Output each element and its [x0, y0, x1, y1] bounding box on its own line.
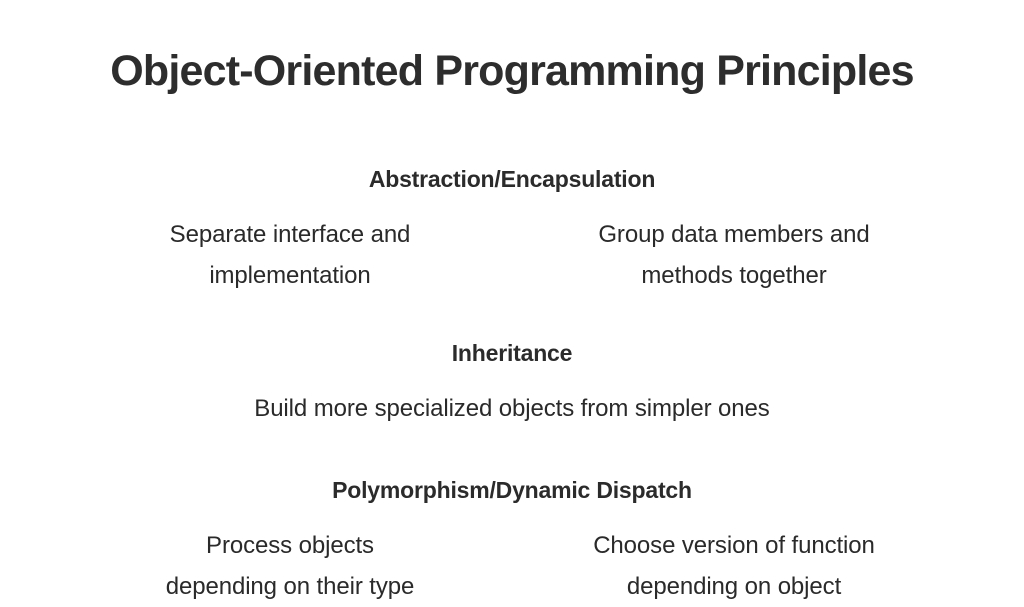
- body-line: implementation: [90, 255, 490, 296]
- section-heading-polymorphism-dynamic-dispatch: Polymorphism/Dynamic Dispatch: [332, 477, 692, 505]
- section-heading-abstraction-encapsulation: Abstraction/Encapsulation: [369, 166, 655, 194]
- section-body-abstraction-encapsulation: Separate interface and implementation Gr…: [0, 214, 1024, 297]
- section-body-right-encapsulation: Group data members and methods together: [534, 214, 934, 297]
- principles-list: Abstraction/Encapsulation Separate inter…: [0, 166, 1024, 607]
- body-line: Build more specialized objects from simp…: [0, 388, 1024, 429]
- section-heading-inheritance: Inheritance: [452, 340, 573, 368]
- section-body-polymorphism: Process objects depending on their type …: [0, 525, 1024, 607]
- principle-section-polymorphism-dynamic-dispatch: Polymorphism/Dynamic Dispatch Process ob…: [0, 477, 1024, 607]
- body-line: Choose version of function: [534, 525, 934, 566]
- body-line: Process objects: [90, 525, 490, 566]
- body-line: Separate interface and: [90, 214, 490, 255]
- section-body-right-dynamic-dispatch: Choose version of function depending on …: [534, 525, 934, 607]
- page-title: Object-Oriented Programming Principles: [110, 48, 914, 95]
- body-line: depending on their type: [90, 566, 490, 607]
- section-body-left-abstraction: Separate interface and implementation: [90, 214, 490, 297]
- principle-section-inheritance: Inheritance Build more specialized objec…: [0, 340, 1024, 429]
- slide-canvas: Object-Oriented Programming Principles A…: [0, 0, 1024, 607]
- body-line: depending on object: [534, 566, 934, 607]
- section-body-inheritance: Build more specialized objects from simp…: [0, 388, 1024, 429]
- principle-section-abstraction-encapsulation: Abstraction/Encapsulation Separate inter…: [0, 166, 1024, 296]
- body-line: Group data members and: [534, 214, 934, 255]
- body-line: methods together: [534, 255, 934, 296]
- section-body-left-polymorphism: Process objects depending on their type: [90, 525, 490, 607]
